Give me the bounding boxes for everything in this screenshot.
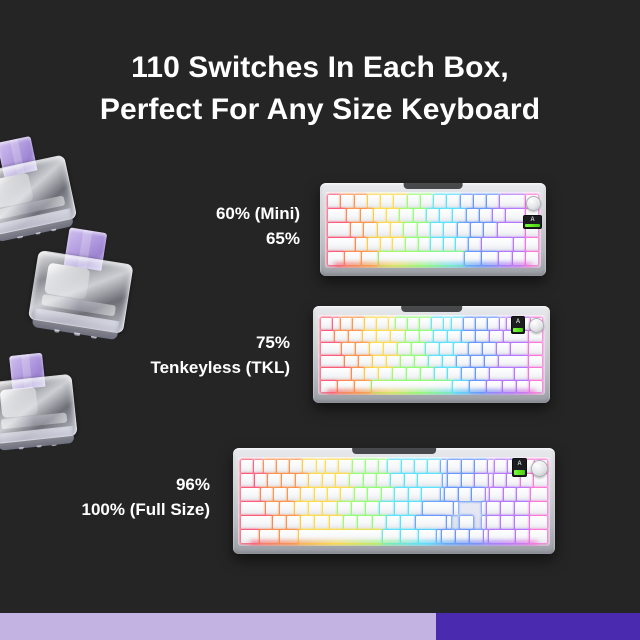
keycap bbox=[499, 356, 528, 368]
display-level-bar bbox=[513, 328, 523, 332]
keycap bbox=[389, 318, 396, 330]
keycap bbox=[388, 460, 400, 473]
keycap-row bbox=[321, 368, 542, 380]
keycap bbox=[328, 209, 346, 222]
keycap bbox=[368, 488, 380, 501]
keycap-row bbox=[241, 460, 547, 473]
keyboard-badge-notch bbox=[352, 448, 436, 454]
keycap bbox=[456, 238, 468, 251]
keycap bbox=[274, 488, 286, 501]
display-level-bar bbox=[514, 470, 525, 475]
keycap bbox=[432, 318, 443, 330]
keycap bbox=[461, 195, 473, 208]
keycap bbox=[423, 502, 452, 515]
keycap bbox=[445, 488, 457, 501]
keycap-grid bbox=[238, 457, 550, 546]
keycap bbox=[321, 368, 351, 380]
keycap bbox=[428, 460, 440, 473]
accent-bar-right bbox=[436, 613, 640, 640]
keycap bbox=[401, 356, 414, 368]
keycap-row bbox=[241, 488, 547, 501]
keycap bbox=[330, 516, 343, 529]
keycap bbox=[396, 318, 407, 330]
keyboard-deck bbox=[325, 192, 541, 268]
keycap bbox=[328, 195, 340, 208]
keycap bbox=[387, 516, 400, 529]
keycap-row bbox=[321, 343, 542, 355]
keycap bbox=[406, 238, 418, 251]
keycap-spacer bbox=[452, 516, 459, 529]
keycap bbox=[365, 368, 378, 380]
keycap bbox=[529, 343, 542, 355]
keycap bbox=[431, 223, 443, 236]
keycap bbox=[482, 502, 486, 515]
keycap-row bbox=[241, 516, 547, 529]
keycap bbox=[420, 318, 431, 330]
keycap bbox=[454, 502, 458, 515]
keycap bbox=[344, 516, 357, 529]
keycap bbox=[476, 368, 489, 380]
display-logo-icon: A bbox=[514, 460, 525, 468]
keycap bbox=[361, 209, 373, 222]
keycap bbox=[412, 343, 425, 355]
keycap bbox=[486, 488, 490, 501]
keycap bbox=[408, 195, 420, 208]
keycap bbox=[352, 502, 365, 515]
keycap bbox=[323, 474, 336, 487]
rotary-knob[interactable] bbox=[531, 460, 548, 477]
keycap bbox=[341, 195, 353, 208]
keycap-spacer bbox=[466, 502, 473, 515]
keycap bbox=[444, 318, 451, 330]
keycap bbox=[391, 223, 403, 236]
keycap bbox=[418, 474, 442, 487]
oled-display: A bbox=[523, 215, 542, 229]
keycap bbox=[483, 343, 496, 355]
keycap bbox=[264, 460, 276, 473]
keycap bbox=[379, 460, 388, 473]
keycap bbox=[387, 356, 400, 368]
keycap bbox=[301, 516, 314, 529]
keycap bbox=[355, 488, 367, 501]
keycap bbox=[497, 343, 510, 355]
keyboard-full-size: A bbox=[233, 448, 555, 554]
keycap bbox=[315, 488, 327, 501]
keycap bbox=[359, 356, 372, 368]
keycap bbox=[429, 356, 442, 368]
keycap bbox=[323, 502, 336, 515]
keycap bbox=[364, 474, 377, 487]
keycap bbox=[441, 488, 445, 501]
keycap bbox=[484, 223, 496, 236]
keycap bbox=[335, 331, 348, 343]
keycap bbox=[321, 331, 334, 343]
keycap bbox=[444, 238, 456, 251]
keycap bbox=[471, 223, 483, 236]
keycap bbox=[529, 368, 542, 380]
keycap bbox=[471, 356, 484, 368]
keycap-row bbox=[328, 195, 538, 208]
keycap bbox=[387, 209, 399, 222]
keycap bbox=[282, 474, 295, 487]
keycap bbox=[462, 474, 475, 487]
keycap bbox=[315, 516, 328, 529]
oled-display: A bbox=[512, 458, 527, 477]
keycap bbox=[309, 474, 322, 487]
keycap bbox=[352, 368, 365, 380]
keycap bbox=[474, 195, 486, 208]
keycap bbox=[422, 488, 439, 501]
keycap bbox=[391, 474, 404, 487]
keycap bbox=[441, 460, 447, 473]
keycap bbox=[280, 502, 293, 515]
keycap bbox=[398, 343, 411, 355]
rotary-knob[interactable] bbox=[526, 196, 541, 211]
keycap bbox=[406, 331, 419, 343]
keycap bbox=[515, 516, 528, 529]
keycap bbox=[485, 356, 498, 368]
keycap bbox=[459, 488, 471, 501]
keycap bbox=[464, 318, 475, 330]
keycap bbox=[328, 223, 350, 236]
keycap-row bbox=[321, 318, 542, 330]
keycap bbox=[241, 474, 254, 487]
keycap bbox=[288, 488, 300, 501]
keycap bbox=[515, 502, 528, 515]
keycap bbox=[384, 343, 397, 355]
keycap bbox=[353, 460, 365, 473]
keycap bbox=[469, 343, 482, 355]
keycap bbox=[373, 356, 386, 368]
keycap-grid bbox=[325, 192, 541, 268]
rgb-underglow-strip bbox=[327, 390, 536, 394]
keycap bbox=[356, 343, 369, 355]
keycap bbox=[309, 502, 322, 515]
keycap bbox=[273, 516, 286, 529]
keycap bbox=[490, 488, 502, 501]
keycap bbox=[419, 238, 431, 251]
keycap bbox=[379, 368, 392, 380]
label-size-96-100: 96% 100% (Full Size) bbox=[5, 472, 210, 522]
keycap bbox=[427, 209, 439, 222]
keycap bbox=[511, 343, 528, 355]
bottom-accent-bar bbox=[0, 613, 640, 640]
keycap bbox=[241, 488, 260, 501]
keycap bbox=[370, 343, 383, 355]
keycap bbox=[377, 331, 390, 343]
keycap bbox=[448, 460, 460, 473]
keycap bbox=[462, 331, 475, 343]
label-line-96: 96% bbox=[5, 472, 210, 497]
keycap bbox=[495, 460, 507, 473]
keyboard-deck bbox=[238, 457, 550, 546]
label-line-75: 75% bbox=[20, 330, 290, 355]
oled-display: A bbox=[511, 316, 525, 334]
keycap bbox=[469, 238, 481, 251]
keycap-row bbox=[328, 209, 538, 222]
accent-bar-left bbox=[0, 613, 436, 640]
keycap bbox=[393, 238, 405, 251]
promo-poster: 110 Switches In Each Box, Perfect For An… bbox=[0, 0, 640, 640]
keycap-spacer bbox=[474, 502, 481, 515]
label-line-60: 60% (Mini) bbox=[20, 201, 300, 226]
keycap bbox=[530, 502, 547, 515]
keycap bbox=[409, 502, 422, 515]
keycap bbox=[452, 318, 463, 330]
keycap bbox=[241, 502, 265, 515]
keycap bbox=[409, 488, 421, 501]
rotary-knob[interactable] bbox=[529, 318, 544, 333]
rgb-underglow-strip bbox=[250, 541, 537, 545]
keycap bbox=[504, 488, 516, 501]
keycap bbox=[444, 223, 456, 236]
keycap-row bbox=[328, 238, 538, 251]
keycap bbox=[405, 474, 418, 487]
keycap bbox=[317, 460, 326, 473]
keycap bbox=[447, 195, 459, 208]
keycap bbox=[395, 488, 407, 501]
page-title: 110 Switches In Each Box, Perfect For An… bbox=[0, 47, 640, 131]
keycap bbox=[295, 502, 308, 515]
keycap bbox=[476, 331, 489, 343]
keycap bbox=[378, 223, 390, 236]
keycap bbox=[356, 238, 368, 251]
keycap bbox=[480, 209, 492, 222]
keycap bbox=[338, 502, 351, 515]
display-level-bar bbox=[525, 224, 540, 227]
keycap bbox=[462, 460, 474, 473]
rgb-underglow-strip bbox=[334, 263, 533, 267]
keycap bbox=[358, 516, 371, 529]
keycap bbox=[328, 238, 355, 251]
keycap-row bbox=[328, 223, 538, 236]
keycap bbox=[501, 502, 514, 515]
keycap bbox=[426, 343, 439, 355]
keycap bbox=[303, 460, 315, 473]
keycap bbox=[462, 368, 475, 380]
keycap bbox=[368, 195, 380, 208]
keycap bbox=[498, 223, 525, 236]
switch-pin bbox=[52, 444, 57, 446]
keycap bbox=[296, 474, 309, 487]
label-line-tkl: Tenkeyless (TKL) bbox=[20, 355, 290, 380]
keycap bbox=[391, 331, 404, 343]
keycap bbox=[408, 318, 419, 330]
keycap bbox=[326, 460, 338, 473]
keycap bbox=[421, 195, 433, 208]
keycap bbox=[401, 516, 414, 529]
keyboard-badge-notch bbox=[404, 183, 463, 189]
keycap bbox=[381, 195, 393, 208]
keycap bbox=[347, 209, 359, 222]
keycap bbox=[500, 318, 507, 330]
keycap bbox=[365, 318, 376, 330]
keycap bbox=[266, 502, 279, 515]
keycap bbox=[448, 474, 461, 487]
keycap bbox=[364, 223, 376, 236]
keycap bbox=[420, 331, 433, 343]
keycap bbox=[453, 209, 465, 222]
label-size-60-65: 60% (Mini) 65% bbox=[20, 201, 300, 251]
keycap bbox=[475, 474, 488, 487]
keycap bbox=[404, 223, 416, 236]
keycap bbox=[395, 502, 408, 515]
keycap bbox=[529, 356, 542, 368]
keycap bbox=[336, 474, 349, 487]
keycap bbox=[415, 356, 428, 368]
keycap bbox=[380, 502, 393, 515]
keycap bbox=[415, 460, 427, 473]
keycap bbox=[382, 488, 394, 501]
label-line-full: 100% (Full Size) bbox=[5, 497, 210, 522]
keycap bbox=[416, 516, 447, 529]
keycap bbox=[447, 516, 451, 529]
keycap bbox=[457, 356, 470, 368]
keycap bbox=[472, 488, 484, 501]
keycap bbox=[374, 209, 386, 222]
keycap bbox=[448, 331, 461, 343]
keycap-row bbox=[241, 502, 547, 515]
keycap bbox=[431, 238, 443, 251]
keycap bbox=[394, 195, 406, 208]
keycap bbox=[476, 318, 487, 330]
keycap-row bbox=[321, 331, 542, 343]
keycap bbox=[321, 343, 341, 355]
keycap bbox=[341, 488, 353, 501]
keycap bbox=[467, 209, 479, 222]
keycap bbox=[490, 368, 514, 380]
keycap bbox=[435, 368, 448, 380]
keycap-spacer bbox=[474, 516, 481, 529]
keycap bbox=[241, 460, 253, 473]
keycap bbox=[494, 474, 507, 487]
keycap bbox=[241, 516, 272, 529]
keycap bbox=[530, 516, 547, 529]
keycap bbox=[333, 318, 340, 330]
keycap bbox=[460, 516, 473, 529]
label-line-65: 65% bbox=[20, 226, 300, 251]
keycap bbox=[482, 238, 513, 251]
keycap bbox=[287, 516, 300, 529]
keyboard-tkl: A bbox=[313, 306, 550, 403]
keycap bbox=[418, 223, 430, 236]
keycap bbox=[526, 238, 538, 251]
keycap bbox=[350, 474, 363, 487]
keycap bbox=[339, 460, 351, 473]
keycap bbox=[421, 368, 434, 380]
keycap bbox=[517, 488, 529, 501]
keycap bbox=[377, 474, 390, 487]
keycap bbox=[381, 238, 393, 251]
keycap bbox=[482, 516, 486, 529]
keycap bbox=[268, 474, 281, 487]
keycap bbox=[506, 209, 524, 222]
keycap bbox=[443, 474, 447, 487]
switch-pin bbox=[19, 447, 24, 450]
keycap bbox=[290, 460, 302, 473]
keycap bbox=[531, 488, 547, 501]
keycap-spacer bbox=[459, 502, 466, 515]
keycap bbox=[454, 343, 467, 355]
display-logo-icon: A bbox=[525, 217, 540, 223]
keycap bbox=[487, 195, 499, 208]
keycap bbox=[353, 318, 364, 330]
keycap-row bbox=[321, 356, 542, 368]
keycap bbox=[440, 343, 453, 355]
keycap bbox=[400, 209, 412, 222]
keycap bbox=[458, 223, 470, 236]
keycap bbox=[475, 460, 487, 473]
keycap bbox=[363, 331, 376, 343]
keycap bbox=[321, 356, 344, 368]
keycap bbox=[254, 460, 263, 473]
keycap bbox=[261, 488, 273, 501]
display-logo-icon: A bbox=[513, 318, 523, 326]
keycap bbox=[345, 356, 358, 368]
keycap bbox=[277, 460, 289, 473]
label-size-75-tkl: 75% Tenkeyless (TKL) bbox=[20, 330, 290, 380]
keyboard-badge-notch bbox=[401, 306, 463, 312]
keycap bbox=[328, 488, 340, 501]
keycap bbox=[514, 238, 526, 251]
keycap bbox=[440, 209, 452, 222]
headline-line-1: 110 Switches In Each Box, bbox=[0, 47, 640, 89]
keycap bbox=[487, 502, 500, 515]
keycap bbox=[355, 195, 367, 208]
keycap bbox=[301, 488, 313, 501]
keycap bbox=[407, 368, 420, 380]
keyboard-65-percent: A bbox=[320, 183, 546, 276]
keycap bbox=[448, 368, 461, 380]
headline-line-2: Perfect For Any Size Keyboard bbox=[0, 89, 640, 131]
keycap bbox=[434, 331, 447, 343]
keycap bbox=[321, 318, 332, 330]
keycap bbox=[487, 516, 500, 529]
switch-pin bbox=[37, 445, 42, 448]
keycap bbox=[434, 195, 446, 208]
keycap bbox=[490, 331, 503, 343]
keycap bbox=[393, 368, 406, 380]
keycap bbox=[342, 343, 355, 355]
keycap bbox=[366, 502, 379, 515]
keycap bbox=[373, 516, 386, 529]
keycap bbox=[366, 460, 378, 473]
keycap bbox=[377, 318, 388, 330]
keycap bbox=[368, 238, 380, 251]
keycap bbox=[414, 209, 426, 222]
keycap bbox=[500, 195, 525, 208]
keycap bbox=[488, 318, 499, 330]
keycap bbox=[341, 318, 352, 330]
keycap bbox=[488, 460, 494, 473]
keycap bbox=[402, 460, 414, 473]
keycap bbox=[489, 474, 493, 487]
keycap bbox=[255, 474, 268, 487]
keycap bbox=[443, 356, 456, 368]
keycap bbox=[501, 516, 514, 529]
keycap-row bbox=[241, 474, 547, 487]
keycap bbox=[351, 223, 363, 236]
keycap bbox=[493, 209, 505, 222]
keycap bbox=[515, 368, 528, 380]
keycap bbox=[349, 331, 362, 343]
